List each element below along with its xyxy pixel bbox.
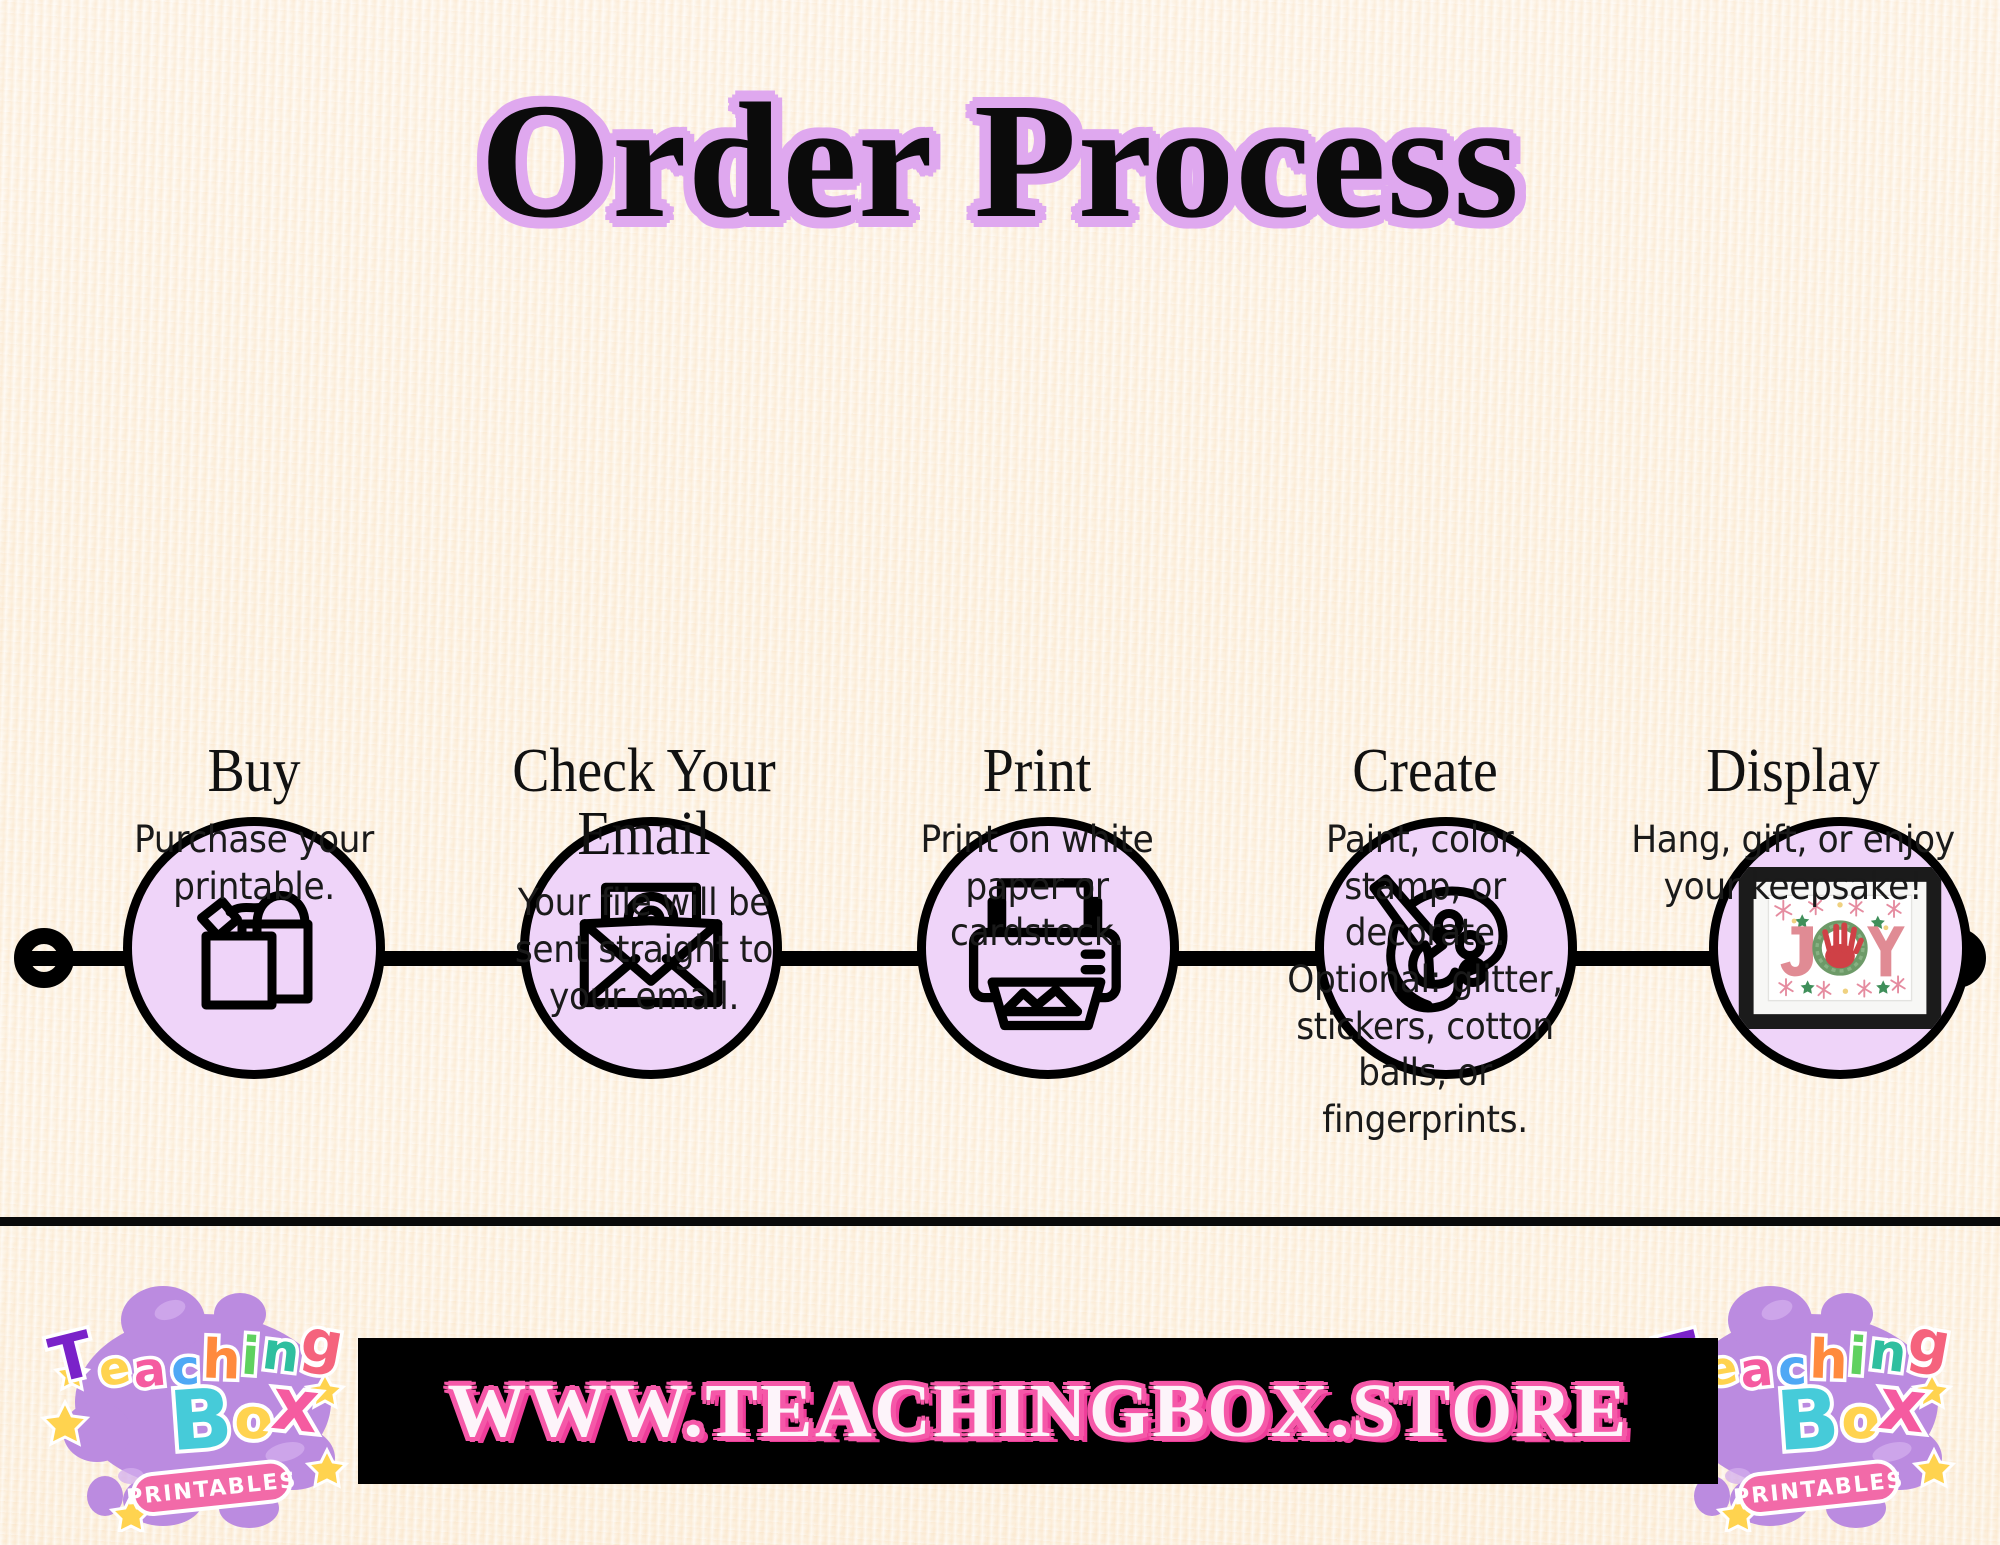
order-process-timeline [0, 400, 2000, 730]
step-heading-create: Create [1272, 740, 1578, 803]
step-heading-buy: Buy [97, 740, 410, 803]
ring-endpoint-icon [14, 928, 74, 988]
step-heading-check-your-email: Check Your Email [487, 740, 800, 866]
teachingbox-logo-left[interactable]: T e a c h i n g B o x PRINTABLES [35, 1262, 365, 1532]
step-body-check-your-email: Your file will be sent straight to your … [482, 880, 806, 1020]
step-heading-display: Display [1627, 740, 1960, 803]
step-column-display: Display Hang, gift, or enjoy your keepsa… [1608, 740, 1978, 910]
svg-text:B: B [167, 1371, 236, 1470]
page-title: Order Process [0, 78, 2000, 243]
step-body-display: Hang, gift, or enjoy your keepsake! [1621, 817, 1965, 910]
website-url-text: WWW.TEACHINGBOX.STORE [447, 1368, 1628, 1455]
svg-text:x: x [1875, 1361, 1930, 1449]
step-body-create: Paint, color, stamp, or decorate. Option… [1267, 817, 1583, 1143]
svg-text:B: B [1774, 1371, 1843, 1470]
svg-text:x: x [268, 1361, 323, 1449]
step-column-check-your-email: Check Your Email Your file will be sent … [470, 740, 818, 1020]
svg-text:T: T [42, 1317, 101, 1398]
website-url-banner[interactable]: WWW.TEACHINGBOX.STORE [358, 1338, 1718, 1484]
step-column-create: Create Paint, color, stamp, or decorate.… [1255, 740, 1595, 1144]
svg-text:a: a [1737, 1341, 1775, 1400]
footer-divider [0, 1217, 2000, 1226]
svg-text:a: a [130, 1341, 168, 1400]
poster-canvas: Order Process [0, 0, 2000, 1545]
step-body-buy: Purchase your printable. [92, 817, 416, 910]
step-column-buy: Buy Purchase your printable. [80, 740, 428, 910]
step-heading-print: Print [889, 740, 1186, 803]
step-body-print: Print on white paper or cardstock. [884, 817, 1191, 957]
step-column-print: Print Print on white paper or cardstock. [872, 740, 1202, 957]
